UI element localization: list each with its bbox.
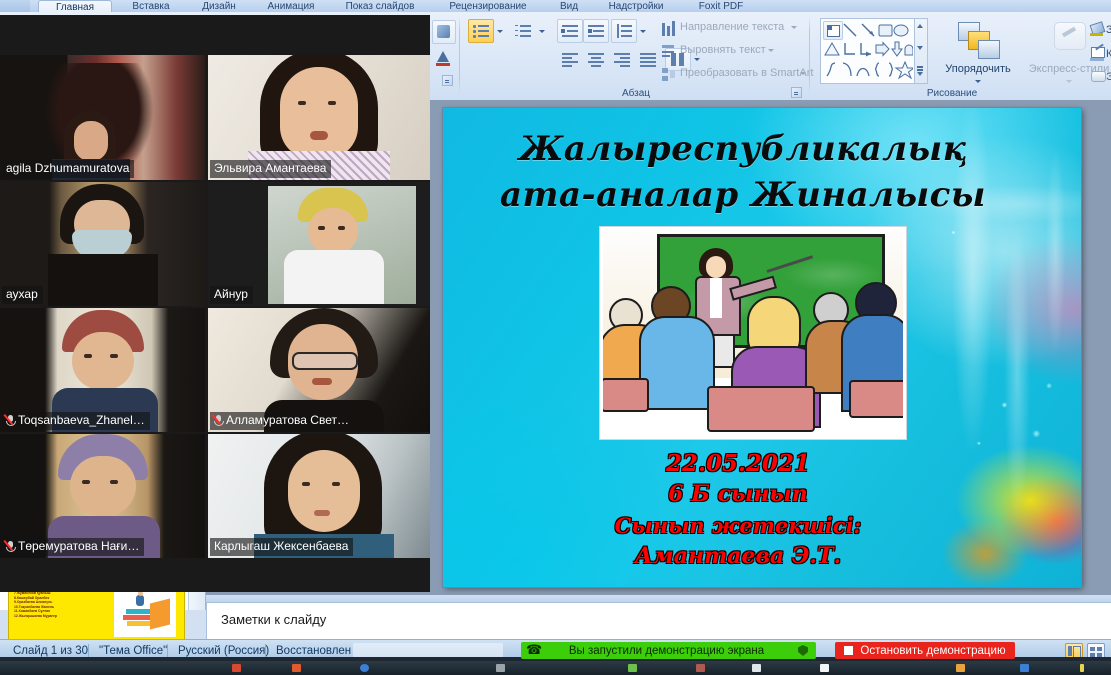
status-window-state: Восстановлен	[267, 643, 360, 657]
align-right-button[interactable]	[609, 48, 635, 71]
video-feed-face	[74, 121, 108, 161]
participant-tile[interactable]: Төремуратова Нағи…	[0, 434, 205, 558]
zoom-video-grid[interactable]: agila Dzhumamuratova Эльвира Амантаева а…	[0, 15, 430, 592]
slide-subtitle-block[interactable]: 22.05.2021 6 Б сынып Сынып жетекшісі: Ам…	[503, 448, 973, 572]
tab-addins[interactable]: Надстройки	[596, 0, 676, 12]
muted-mic-icon	[6, 415, 14, 427]
participant-tile[interactable]: Toqsanbaeva_Zhanel…	[0, 308, 205, 432]
video-feed-eyes	[298, 101, 306, 105]
arrange-label: Упорядочить	[932, 63, 1024, 75]
clipart-chair	[707, 386, 815, 432]
video-feed-face	[280, 67, 358, 159]
taskbar-app-icon[interactable]	[628, 664, 637, 672]
status-theme[interactable]: "Тема Office"	[90, 643, 176, 657]
office-button-area[interactable]	[0, 0, 30, 12]
clipart-teacher-face	[706, 256, 726, 278]
smartart-caret[interactable]	[800, 72, 806, 75]
stop-square-icon	[844, 646, 853, 655]
shape-effects-label: Э	[1106, 71, 1111, 83]
slide-teacher-label: Сынып жетекшісі:	[503, 510, 973, 541]
ribbon-group-drawing: Упорядочить Экспресс-стили Рисование	[816, 12, 1111, 100]
ribbon-tab-strip: Главная Вставка Дизайн Анимация Показ сл…	[0, 0, 1111, 12]
participant-name: Төремуратова Нағи…	[2, 538, 144, 556]
video-feed-glasses	[292, 352, 358, 370]
clipart-chair	[849, 380, 906, 418]
video-feed-eyes	[302, 482, 310, 486]
participant-tile[interactable]: Айнур	[208, 182, 430, 306]
tab-foxit-pdf[interactable]: Foxit PDF	[684, 0, 758, 12]
paragraph-dialog-launcher[interactable]	[791, 87, 802, 98]
font-dialog-launcher[interactable]	[442, 75, 453, 86]
tab-design[interactable]: Дизайн	[188, 0, 250, 12]
tab-home[interactable]: Главная	[38, 0, 112, 12]
video-feed-mouth	[310, 131, 328, 140]
participant-name: Алламуратова Свет…	[210, 412, 354, 430]
participant-name-text: Алламуратова Свет…	[226, 413, 349, 428]
align-text-label[interactable]: Выровнять текст	[680, 44, 766, 56]
slide-canvas[interactable]: Жалыреспубликалық ата-аналар Жиналысы	[443, 108, 1081, 587]
slide-class: 6 Б сынып	[503, 479, 973, 510]
shape-lines-row1[interactable]	[842, 22, 912, 38]
numbering-dropdown[interactable]	[535, 19, 550, 43]
video-feed-jacket	[48, 254, 158, 306]
shape-row3[interactable]	[823, 60, 913, 80]
screenshot-root: Главная Вставка Дизайн Анимация Показ сл…	[0, 0, 1111, 675]
participant-tile[interactable]: Карлыгаш Жексенбаева	[208, 434, 430, 558]
taskbar-app-icon[interactable]	[752, 664, 761, 672]
tab-animation[interactable]: Анимация	[254, 0, 328, 12]
bullets-button[interactable]	[468, 19, 494, 43]
status-separator	[88, 644, 89, 657]
participant-name: Toqsanbaeva_Zhanel…	[2, 412, 150, 430]
participant-tile[interactable]: аухар	[0, 182, 205, 306]
convert-smartart-icon	[658, 64, 678, 86]
video-feed-mouth	[312, 378, 332, 385]
muted-mic-icon	[6, 541, 14, 553]
thumbnail-text-list: 7.Жұмабеков Қуаныш 8.Көшербай Оралбек 9.…	[14, 591, 109, 619]
numbering-button[interactable]	[510, 19, 536, 43]
shapes-scroll-up[interactable]	[915, 20, 925, 32]
font-color-button[interactable]	[432, 48, 456, 70]
taskbar-app-icon[interactable]	[360, 664, 369, 672]
video-feed-mouth	[314, 510, 330, 516]
participant-name: agila Dzhumamuratova	[2, 160, 134, 178]
status-language[interactable]: Русский (Россия)	[169, 643, 278, 657]
video-feed-shirt	[284, 250, 384, 304]
shapes-gallery[interactable]	[820, 18, 916, 84]
windows-taskbar[interactable]	[0, 661, 1111, 675]
participant-name: Карлыгаш Жексенбаева	[210, 538, 353, 556]
text-direction-icon	[658, 18, 678, 40]
taskbar-app-icon[interactable]	[496, 664, 505, 672]
convert-smartart-label[interactable]: Преобразовать в SmartArt	[680, 67, 813, 79]
video-feed-face	[70, 456, 136, 516]
video-feed-eyes	[84, 354, 92, 358]
stop-share-label: Остановить демонстрацию	[860, 645, 1005, 657]
align-center-button[interactable]	[583, 48, 609, 71]
taskbar-app-icon[interactable]	[1020, 664, 1029, 672]
shield-icon[interactable]	[790, 642, 816, 659]
slide-title[interactable]: Жалыреспубликалық ата-аналар Жиналысы	[483, 126, 1003, 218]
taskbar-app-icon[interactable]	[696, 664, 705, 672]
view-buttons	[1065, 643, 1105, 657]
ribbon-group-font-remnant	[430, 12, 460, 100]
thumbnail-clipart	[114, 591, 176, 637]
participant-tile[interactable]: Алламуратова Свет…	[208, 308, 430, 432]
shapes-scrollbar[interactable]	[914, 18, 928, 84]
normal-view-button[interactable]	[1065, 643, 1083, 657]
slide-title-line1: Жалыреспубликалық	[483, 126, 1003, 172]
bullets-dropdown[interactable]	[493, 19, 508, 43]
muted-mic-icon	[214, 415, 222, 427]
tab-insert[interactable]: Вставка	[118, 0, 184, 12]
drawing-group-label: Рисование	[816, 88, 1088, 99]
participant-name-text: Toqsanbaeva_Zhanel…	[18, 413, 145, 428]
shape-textbox[interactable]	[823, 21, 843, 40]
align-text-icon	[658, 41, 678, 63]
align-left-button[interactable]	[557, 48, 583, 71]
slide-date: 22.05.2021	[503, 448, 973, 479]
align-text-caret[interactable]	[768, 49, 774, 52]
shapes-more[interactable]	[915, 64, 925, 76]
participant-tile[interactable]: Эльвира Амантаева	[208, 55, 430, 180]
participant-name: Эльвира Амантаева	[210, 160, 331, 178]
notes-pane[interactable]: Заметки к слайду	[206, 602, 1111, 640]
phone-icon	[521, 642, 543, 659]
paragraph-group-label: Абзац	[462, 88, 810, 99]
participant-name-text: Төремуратова Нағи…	[18, 539, 139, 554]
ribbon-group-paragraph: Направление текста Выровнять текст	[462, 12, 810, 100]
increase-indent-button[interactable]	[583, 19, 609, 43]
status-progress-area	[353, 643, 503, 657]
slide-clipart-image[interactable]	[600, 227, 906, 439]
slide-teacher-name: Амантаева Э.Т.	[503, 541, 973, 572]
line-spacing-dropdown[interactable]	[636, 19, 650, 43]
notes-placeholder[interactable]: Заметки к слайду	[221, 612, 326, 627]
clear-formatting-button[interactable]	[432, 20, 456, 44]
share-notice-text: Вы запустили демонстрацию экрана	[543, 645, 790, 657]
text-direction-caret[interactable]	[791, 26, 797, 29]
slide-title-line2: ата-аналар Жиналысы	[483, 172, 1003, 218]
decrease-indent-button[interactable]	[557, 19, 583, 43]
slide-sorter-view-button[interactable]	[1087, 643, 1105, 657]
participant-tile[interactable]: agila Dzhumamuratova	[0, 55, 205, 180]
taskbar-app-icon[interactable]	[820, 664, 829, 672]
shapes-scroll-down[interactable]	[915, 42, 925, 54]
thumbnail-line: 12.Жылқышаева Мұрагер	[14, 614, 109, 619]
taskbar-app-icon[interactable]	[956, 664, 965, 672]
slide-thumbnail[interactable]: 7.Жұмабеков Қуаныш 8.Көшербай Оралбек 9.…	[8, 587, 185, 642]
clipart-chair	[601, 378, 649, 412]
participant-name: Айнур	[210, 286, 253, 304]
video-feed-face	[72, 332, 134, 390]
arrange-button[interactable]: Упорядочить	[932, 18, 1024, 88]
status-slide-counter[interactable]: Слайд 1 из 30	[4, 643, 97, 657]
status-separator	[167, 644, 168, 657]
video-feed-face	[288, 450, 360, 532]
stop-share-button[interactable]: Остановить демонстрацию	[835, 642, 1015, 659]
taskbar-app-icon[interactable]	[232, 664, 241, 672]
tab-slideshow[interactable]: Показ слайдов	[332, 0, 428, 12]
shape-fill-label: З	[1106, 24, 1111, 36]
zoom-share-notice-bar[interactable]: Вы запустили демонстрацию экрана	[521, 642, 816, 659]
group-separator	[459, 16, 460, 94]
text-direction-label[interactable]: Направление текста	[680, 21, 784, 33]
taskbar-app-icon[interactable]	[1080, 664, 1084, 672]
shape-row2[interactable]	[823, 40, 913, 58]
shape-outline-label: К	[1106, 48, 1111, 60]
status-separator	[265, 644, 266, 657]
notes-splitter[interactable]	[206, 595, 1111, 602]
clipart-person-body	[639, 316, 715, 410]
shape-format-column: З К Э	[1088, 12, 1111, 100]
video-feed-face	[308, 208, 358, 254]
line-spacing-button[interactable]	[611, 19, 637, 43]
taskbar-app-icon[interactable]	[292, 664, 301, 672]
tab-review[interactable]: Рецензирование	[436, 0, 540, 12]
group-separator	[809, 16, 810, 94]
video-feed-eyes	[82, 480, 90, 484]
participant-name: аухар	[2, 286, 43, 304]
video-feed-eyes	[318, 226, 325, 230]
tab-view[interactable]: Вид	[548, 0, 590, 12]
clipart-teacher-shirt	[710, 278, 722, 318]
